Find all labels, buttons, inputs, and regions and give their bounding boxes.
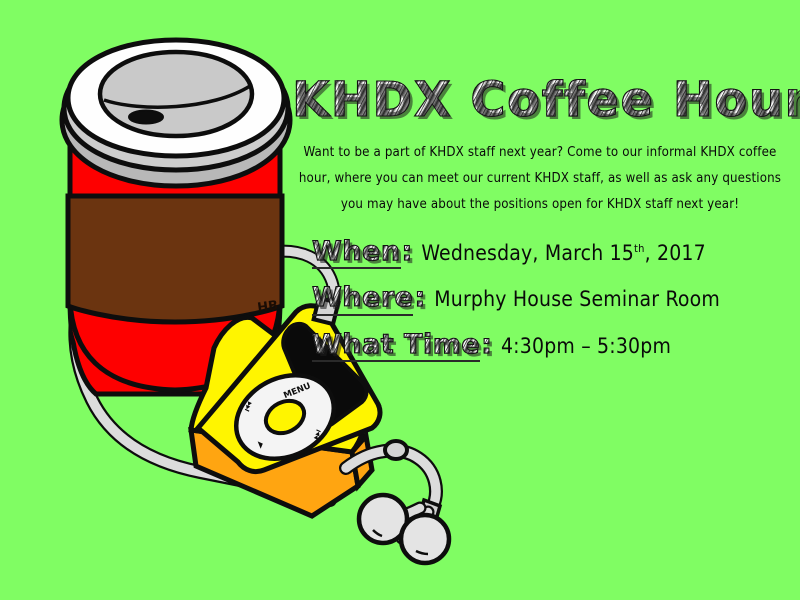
detail-value-when-ordinal: th: [634, 242, 645, 255]
detail-row-what-time: What Time : 4:30pm – 5:30pm: [312, 331, 794, 362]
poster-text-column: KHDX Coffee Hour Want to be a part of KH…: [286, 76, 794, 416]
detail-colon-where: :: [414, 284, 425, 312]
page-title: KHDX Coffee Hour: [292, 76, 794, 124]
cup-sleeve: [68, 196, 282, 322]
cable-splitter-bead: [385, 441, 407, 459]
event-details-list: When : Wednesday, March 15th, 2017 Where…: [286, 238, 794, 362]
detail-value-what-time: 4:30pm – 5:30pm: [501, 334, 671, 358]
lid-inner-recess: [100, 52, 252, 136]
poster-canvas: HB MENU ⏮ ⏭ ⏵: [0, 0, 800, 600]
detail-colon-what-time: :: [481, 331, 492, 359]
lid-sip-hole: [129, 111, 163, 124]
detail-row-where: Where : Murphy House Seminar Room: [312, 284, 794, 315]
detail-label-what-time: What Time: [312, 331, 480, 362]
poster-blurb: Want to be a part of KHDX staff next yea…: [290, 140, 790, 218]
cup-lid: [62, 40, 290, 186]
detail-value-when-tail: , 2017: [645, 241, 706, 265]
detail-value-when: Wednesday, March 15th, 2017: [421, 241, 706, 265]
earbuds-group: [346, 441, 449, 563]
detail-value-when-text: Wednesday, March 15: [421, 241, 634, 265]
detail-label-where: Where: [312, 284, 413, 315]
detail-row-when: When : Wednesday, March 15th, 2017: [312, 238, 794, 269]
earbud-right: [401, 515, 449, 563]
detail-colon-when: :: [402, 238, 413, 266]
detail-value-where: Murphy House Seminar Room: [434, 287, 720, 311]
artist-signature: HB: [256, 298, 279, 316]
detail-label-when: When: [312, 238, 401, 269]
